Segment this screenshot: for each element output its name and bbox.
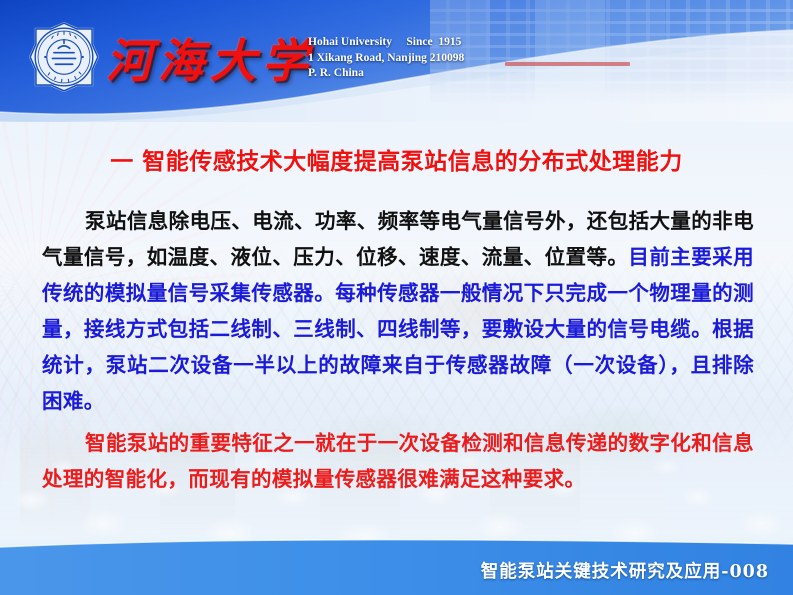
hohai-university-seal-icon <box>28 21 100 93</box>
university-address-block: Hohai University Since 1915 1 Xikang Roa… <box>308 35 464 82</box>
header-banner-stripe <box>505 62 630 66</box>
slide-footer-label: 智能泵站关键技术研究及应用-008 <box>481 558 769 583</box>
paragraph-2-red-run: 智能泵站的重要特征之一就在于一次设备检测和信息传递的数字化和信息处理的智能化，而… <box>42 431 754 491</box>
presentation-slide: 河海大学 Hohai University Since 1915 1 Xikan… <box>0 0 793 595</box>
slide-title: 一 智能传感技术大幅度提高泵站信息的分布式处理能力 <box>0 142 793 176</box>
slide-header: 河海大学 Hohai University Since 1915 1 Xikan… <box>0 0 793 122</box>
header-campus-photo <box>430 0 793 105</box>
body-paragraph-2: 智能泵站的重要特征之一就在于一次设备检测和信息传递的数字化和信息处理的智能化，而… <box>42 425 754 497</box>
paragraph-1-blue-run: 目前主要采用传统的模拟量信号采集传感器。每种传感器一般情况下只完成一个物理量的测… <box>42 245 754 413</box>
body-paragraph-1: 泵站信息除电压、电流、功率、频率等电气量信号外，还包括大量的非电气量信号，如温度… <box>42 203 754 419</box>
university-chinese-logotype: 河海大学 <box>106 25 314 91</box>
